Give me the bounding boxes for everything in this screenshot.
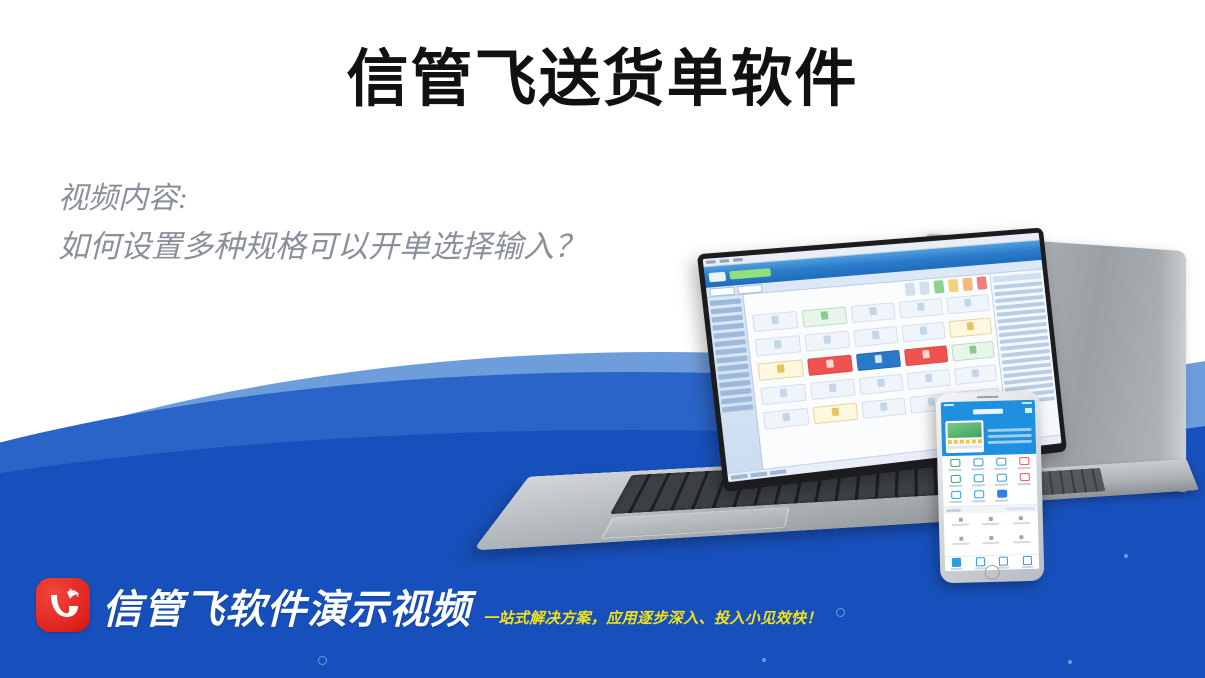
- toolbar-icon: [933, 280, 944, 294]
- mobile-stats-grid: [944, 512, 1039, 556]
- decorative-dot: [318, 656, 327, 665]
- mobile-app-icon: [968, 490, 989, 503]
- app-tile: [901, 322, 945, 343]
- phone-screen: [941, 400, 1039, 571]
- app-tile: [899, 298, 943, 319]
- video-content-question: 如何设置多种规格可以开单选择输入？: [58, 223, 585, 271]
- app-tile: [946, 294, 990, 314]
- mobile-app-icon: [990, 457, 1011, 470]
- app-tile: [804, 331, 850, 352]
- toolbar-icon: [919, 281, 930, 295]
- mobile-stat: [978, 535, 1006, 551]
- mobile-app-title: [973, 409, 1003, 415]
- app-tile: [810, 379, 856, 401]
- toolbar-icon: [962, 278, 973, 292]
- right-panel-header: [993, 273, 1042, 283]
- mobile-app-icon: [944, 459, 965, 472]
- app-tile: [853, 326, 898, 347]
- video-content-label: 视频内容:: [58, 176, 585, 223]
- app-tile: [909, 392, 953, 413]
- flying-bird-logo-icon: [36, 578, 90, 632]
- mobile-stat: [1007, 516, 1035, 532]
- wave-shape-dark-blue: [0, 430, 1205, 678]
- app-body: [707, 270, 1060, 473]
- app-logo-icon: [708, 271, 726, 282]
- app-tile: [861, 397, 906, 419]
- laptop-base: [473, 450, 1043, 551]
- app-tile: [859, 374, 904, 395]
- phone-status-bar: [941, 400, 1035, 407]
- laptop-trackpad: [601, 507, 790, 539]
- mobile-tab-reports: [992, 556, 1016, 569]
- app-tile: [752, 311, 799, 332]
- footer-brand: 信管飞软件演示视频 一站式解决方案，应用逐步深入、投入小见效快！: [36, 578, 822, 632]
- laptop-screen: [703, 233, 1062, 482]
- app-menu-bar: [703, 233, 1040, 268]
- app-tile: [807, 355, 853, 376]
- video-content-block: 视频内容: 如何设置多种规格可以开单选择输入？: [58, 176, 585, 271]
- laptop-keyboard: [610, 455, 1016, 514]
- mobile-icon-grid: [942, 454, 1037, 507]
- app-status-bar: [727, 435, 1061, 483]
- wave-shape-mid-blue: [0, 372, 1205, 678]
- app-tile: [951, 341, 995, 362]
- app-tile: [760, 384, 807, 406]
- slide-canvas: 信管飞送货单软件 视频内容: 如何设置多种规格可以开单选择输入？: [0, 0, 1205, 678]
- app-title-chip: [729, 268, 771, 280]
- mobile-stat: [947, 517, 975, 533]
- mobile-stat: [977, 517, 1005, 533]
- mobile-app-icon: [945, 475, 966, 488]
- app-icon-grid: [752, 294, 1000, 430]
- mobile-app-icon: [991, 473, 1012, 486]
- banner-image: [947, 422, 981, 438]
- rating-stars-icon: [948, 439, 982, 444]
- mobile-tab-profile: [1015, 556, 1039, 569]
- app-tile: [907, 369, 951, 390]
- mobile-section-header: [944, 505, 1038, 514]
- mobile-app-icon: [945, 491, 966, 504]
- mobile-app-header: [941, 405, 1035, 418]
- page-title: 信管飞送货单软件: [0, 46, 1205, 114]
- app-toolbar: [904, 276, 987, 296]
- app-tile: [904, 345, 948, 366]
- laptop-rear-lid: [926, 234, 1186, 493]
- app-tile: [956, 388, 999, 409]
- mobile-app-icon: [991, 489, 1012, 502]
- app-tile: [757, 359, 804, 381]
- app-sidebar: [707, 295, 763, 473]
- toolbar-icon: [976, 276, 987, 290]
- toolbar-icon: [904, 282, 915, 296]
- mobile-banner: [941, 416, 1036, 456]
- app-main-panel: [743, 274, 1007, 469]
- brand-tagline: 一站式解决方案，应用逐步深入、投入小见效快！: [483, 611, 822, 632]
- wave-shape-right-light: [1010, 325, 1205, 522]
- app-tab-strip: [706, 260, 1043, 298]
- banner-text: [987, 419, 1032, 452]
- laptop-with-erp-desktop-app: [552, 240, 1072, 580]
- laptop-rear-base: [943, 459, 1199, 507]
- laptop-rear-view: [905, 242, 1205, 542]
- app-tile: [949, 317, 993, 338]
- hamburger-menu-icon: [1025, 408, 1032, 413]
- brand-name: 信管飞软件演示视频: [102, 590, 471, 632]
- mobile-tab-bar: [945, 554, 1039, 571]
- decorative-dot: [762, 658, 766, 662]
- mobile-app-icon: [1013, 457, 1034, 470]
- mobile-app-icon: [967, 458, 988, 471]
- app-right-panel: [989, 270, 1060, 441]
- banner-line: [948, 445, 982, 449]
- mobile-stat: [1008, 534, 1036, 550]
- app-tile: [954, 364, 998, 385]
- phone-earpiece: [977, 396, 999, 399]
- app-tile: [755, 335, 802, 356]
- mobile-stat: [947, 536, 975, 552]
- toolbar-icon: [948, 279, 959, 293]
- phone-home-button: [985, 565, 1000, 580]
- app-tile: [813, 403, 859, 425]
- wave-shape-right-dark: [1020, 393, 1205, 678]
- decorative-dot: [836, 608, 845, 617]
- mobile-tab-home: [945, 558, 969, 571]
- app-tile: [802, 307, 848, 328]
- smartphone-with-mobile-app: [936, 391, 1045, 584]
- mobile-tab-orders: [968, 557, 992, 570]
- decorative-dot: [1068, 660, 1072, 664]
- app-tile: [856, 350, 901, 371]
- mobile-app-icon: [968, 474, 989, 487]
- app-tile: [851, 302, 896, 323]
- mobile-app-icon: [1014, 473, 1035, 486]
- laptop-lid: [697, 227, 1067, 491]
- banner-card: [945, 420, 984, 453]
- app-header-bar: [704, 240, 1042, 287]
- laptop-rear-keyboard: [952, 468, 1106, 501]
- decorative-dot: [1124, 554, 1128, 558]
- app-tile: [763, 408, 810, 430]
